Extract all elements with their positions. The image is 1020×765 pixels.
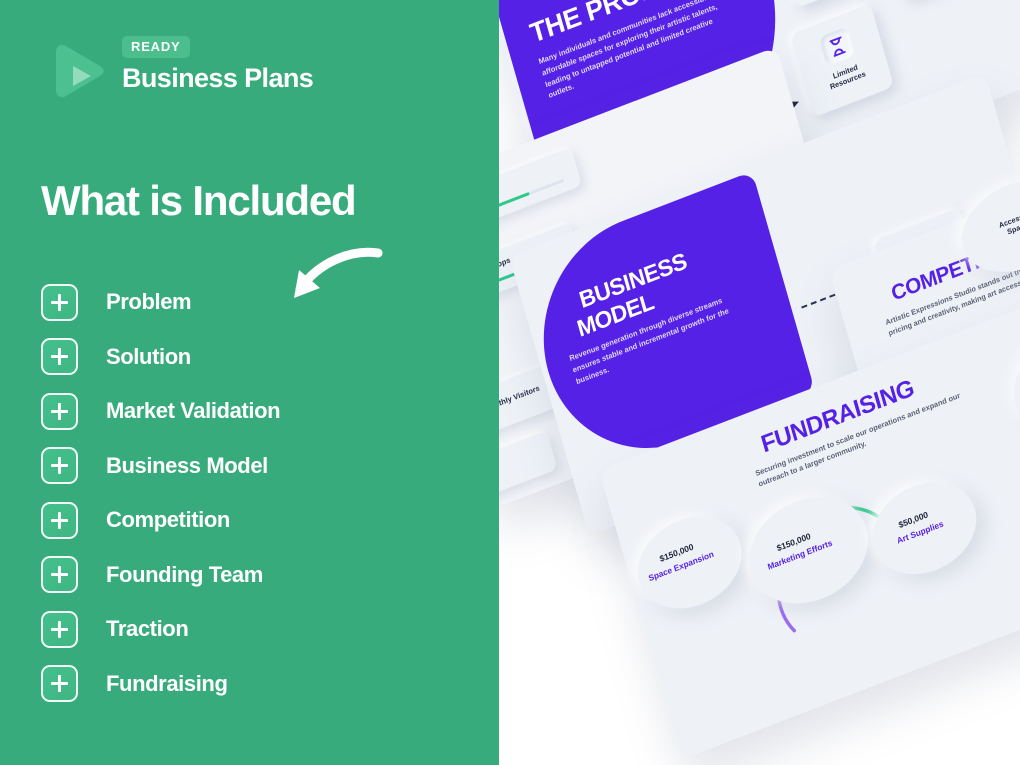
traction-stat-label: Monthly Visitors xyxy=(499,383,541,413)
problem-card-label: Limited Resources xyxy=(804,52,889,101)
included-list: Problem Solution Market Validation Busin… xyxy=(41,283,461,719)
list-item[interactable]: Traction xyxy=(41,610,461,648)
problem-card-high-cost[interactable]: High Cost xyxy=(881,0,985,1)
decorative-bubble xyxy=(1002,315,1020,451)
brand-text-block: READY Business Plans xyxy=(122,36,313,92)
plus-icon xyxy=(41,502,78,539)
list-item-label: Solution xyxy=(106,344,191,370)
list-item-label: Fundraising xyxy=(106,671,228,697)
plus-icon xyxy=(41,338,78,375)
list-item[interactable]: Founding Team xyxy=(41,556,461,594)
brand-header: READY Business Plans xyxy=(46,36,313,102)
screenshot-root: READY Business Plans What is Included Pr… xyxy=(0,0,1020,765)
list-item[interactable]: Market Validation xyxy=(41,392,461,430)
traction-extra-card[interactable]: ield xyxy=(499,431,558,513)
plus-icon xyxy=(41,556,78,593)
list-item[interactable]: Business Model xyxy=(41,447,461,485)
list-item-label: Problem xyxy=(106,289,191,315)
plus-icon xyxy=(41,447,78,484)
list-item[interactable]: Problem xyxy=(41,283,461,321)
play-triangle-icon xyxy=(46,40,108,102)
list-item-label: Traction xyxy=(106,616,188,642)
list-item-label: Competition xyxy=(106,507,230,533)
brand-title: Business Plans xyxy=(122,64,313,92)
plus-icon xyxy=(41,284,78,321)
list-item-label: Founding Team xyxy=(106,562,263,588)
slides-preview-panel: THE PROBLEM Many individuals and communi… xyxy=(499,0,1020,765)
hourglass-icon xyxy=(819,27,855,67)
page-title: What is Included xyxy=(41,180,355,222)
progress-track xyxy=(499,179,564,229)
list-item[interactable]: Fundraising xyxy=(41,665,461,703)
progress-fill xyxy=(499,192,530,229)
plus-icon xyxy=(41,611,78,648)
problem-card-limited-resources[interactable]: Limited Resources xyxy=(790,4,894,118)
list-item[interactable]: Competition xyxy=(41,501,461,539)
slides-perspective-scene: THE PROBLEM Many individuals and communi… xyxy=(499,0,1020,765)
left-green-panel: READY Business Plans What is Included Pr… xyxy=(0,0,499,765)
plus-icon xyxy=(41,665,78,702)
ready-badge: READY xyxy=(122,36,190,58)
list-item-label: Market Validation xyxy=(106,398,280,424)
list-item-label: Business Model xyxy=(106,453,268,479)
plus-icon xyxy=(41,393,78,430)
list-item[interactable]: Solution xyxy=(41,338,461,376)
